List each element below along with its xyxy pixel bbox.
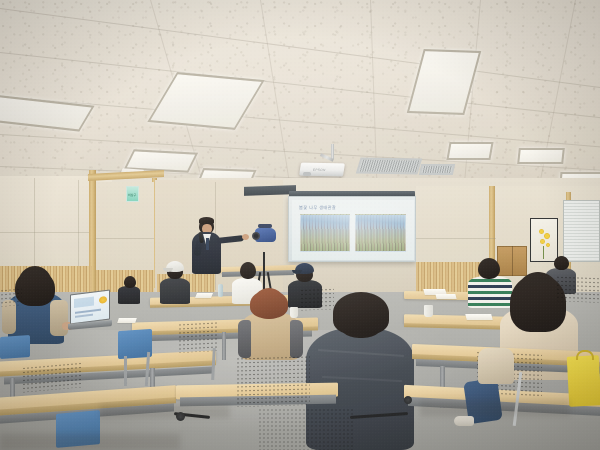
attendee-sleeve (238, 320, 251, 358)
bag-handle (576, 350, 594, 360)
flower-icon (544, 233, 550, 239)
handout-paper (117, 318, 137, 323)
floor-shadow (0, 434, 180, 450)
black-chair[interactable] (556, 275, 600, 303)
flower-icon (540, 239, 545, 244)
paper-cup (290, 307, 298, 318)
projector-mount-arm (331, 144, 334, 159)
laptop-screen[interactable] (70, 290, 110, 325)
camera-top-handle (258, 224, 272, 228)
ceiling-vent (419, 164, 455, 175)
projector-lens (303, 172, 311, 176)
black-chair[interactable] (300, 287, 334, 310)
attendee-head (240, 262, 256, 279)
flower-icon (539, 229, 544, 234)
presenter-tie (206, 238, 209, 250)
attendee-head (554, 256, 569, 270)
slide-photo-right (355, 214, 406, 252)
handout-paper (435, 294, 456, 299)
attendee-body (160, 278, 190, 304)
black-chair[interactable] (0, 287, 22, 307)
black-chair[interactable] (236, 355, 310, 407)
attendee-head (124, 276, 136, 288)
classroom-photo: EPSON 비상구 봄꽃 나무 생태관찰 (0, 0, 600, 450)
blue-chair[interactable] (0, 335, 30, 359)
wall-panel-seam (96, 238, 154, 239)
desk-leg (222, 332, 226, 360)
caster-wheel (404, 396, 412, 404)
attendee-sleeve (50, 300, 68, 336)
flower-icon (546, 243, 550, 247)
laptop-ui-panel (74, 297, 94, 308)
projector-brand-label: EPSON (313, 167, 326, 171)
chair-leg (124, 356, 127, 386)
cabinet-seam (512, 246, 513, 276)
slide-surface: 봄꽃 나무 생태관찰 (292, 200, 414, 260)
exit-sign-text: 비상구 (128, 193, 136, 197)
presenter-hand (242, 234, 249, 240)
exit-sign: 비상구 (126, 186, 139, 202)
projection-screen: 봄꽃 나무 생태관찰 (288, 196, 416, 262)
framed-flower-art (530, 218, 558, 262)
paper-cup (424, 305, 433, 317)
attendee-body (118, 286, 140, 304)
slide-title: 봄꽃 나무 생태관찰 (299, 205, 336, 211)
attendee-hair (250, 290, 288, 318)
floor-shadow (100, 404, 230, 418)
attendee-body-striped (468, 276, 512, 308)
attendee-shoe (454, 416, 474, 426)
attendee-sleeve (290, 320, 303, 358)
attendee-torso-beige (478, 348, 514, 384)
handout-paper (465, 314, 492, 320)
attendee-hair (333, 292, 389, 334)
laptop-ui-text (75, 314, 93, 318)
ceiling-light-panel (446, 142, 493, 160)
black-chair[interactable] (258, 408, 354, 450)
presenter-hair (199, 217, 214, 224)
floor-shadow (420, 400, 570, 416)
laptop-ui-accent (99, 296, 107, 304)
yellow-tote-bag (567, 355, 600, 407)
ceiling-light-panel (517, 148, 565, 164)
black-chair[interactable] (22, 361, 82, 392)
flower-stem (543, 246, 544, 259)
wall-panel-seam (416, 238, 496, 239)
window-blind (563, 200, 600, 262)
slide-photo-left (300, 214, 350, 252)
water-bottle (218, 284, 223, 297)
attendee-head (478, 258, 500, 279)
camera-lens-icon (252, 232, 260, 240)
handout-paper (195, 293, 213, 298)
laptop-ui-text (75, 309, 101, 314)
ceiling-vent (356, 157, 423, 174)
